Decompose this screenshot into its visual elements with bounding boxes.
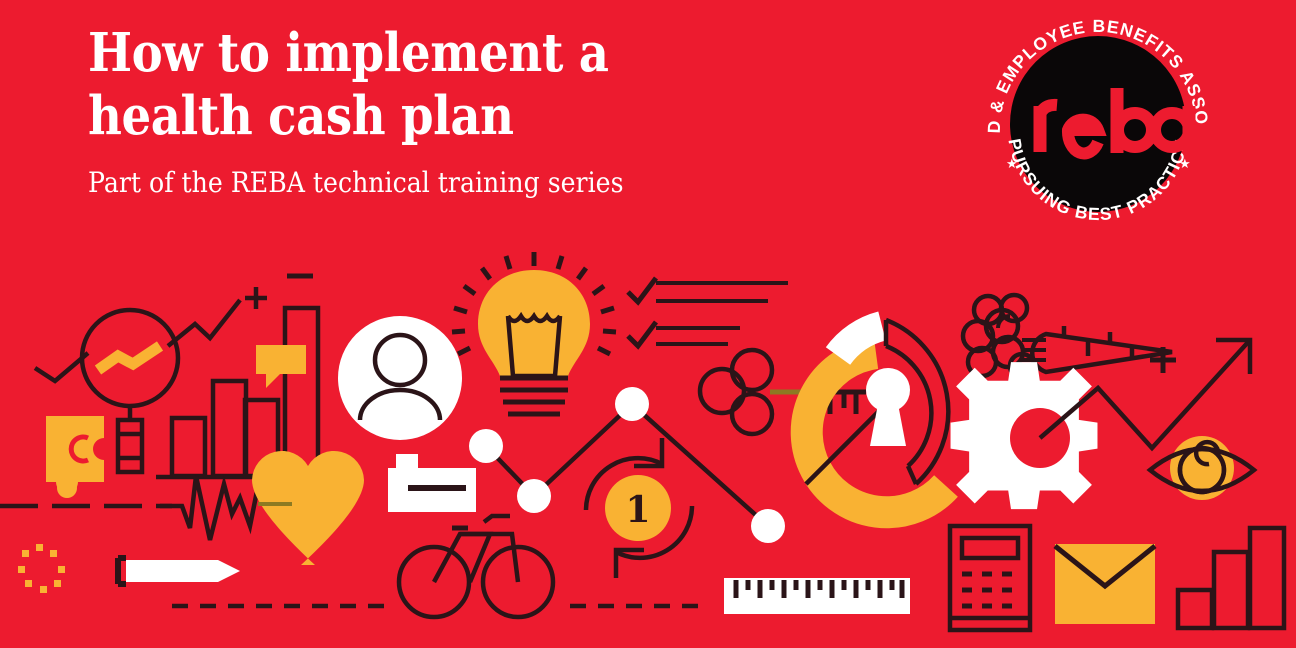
donut-keyhole-icon [806,320,948,512]
heart-icon [252,451,364,565]
keyhole-shape [866,368,910,446]
plus-icon [245,287,267,309]
bicycle-icon [399,516,553,617]
illustration-svg: 1 [0,248,1296,648]
eye-icon [1150,436,1254,500]
envelope-icon [1055,544,1155,624]
logo-star-left-icon: ★ [1006,156,1018,171]
reba-logo-badge[interactable]: REWARD & EMPLOYEE BENEFITS ASSOCIATION P… [976,2,1220,246]
puzzle-piece-icon [46,416,104,498]
bar-chart-small-icon [1178,528,1284,628]
page-title: How to implement a health cash plan [88,22,810,148]
logo-svg: REWARD & EMPLOYEE BENEFITS ASSOCIATION P… [976,2,1220,246]
user-avatar-icon [338,316,462,440]
calculator-icon [950,526,1030,630]
header-block: How to implement a health cash plan Part… [88,22,908,200]
carrot-icon [963,295,1172,378]
checklist-icon [628,278,788,346]
page-subtitle: Part of the REBA technical training seri… [88,166,826,200]
step-badge-label: 1 [625,489,650,531]
speech-bubble-icon [388,454,476,512]
spark-icon [18,544,65,593]
lightbulb-icon [452,252,616,414]
gear-icon [951,362,1098,509]
illustration-band: 1 [0,248,1296,648]
logo-star-right-icon: ★ [1179,156,1191,171]
pencil-icon [118,558,240,584]
refresh-cycle-icon[interactable]: 1 [586,438,692,578]
ruler-icon [724,578,910,614]
poster-canvas: How to implement a health cash plan Part… [0,0,1296,648]
